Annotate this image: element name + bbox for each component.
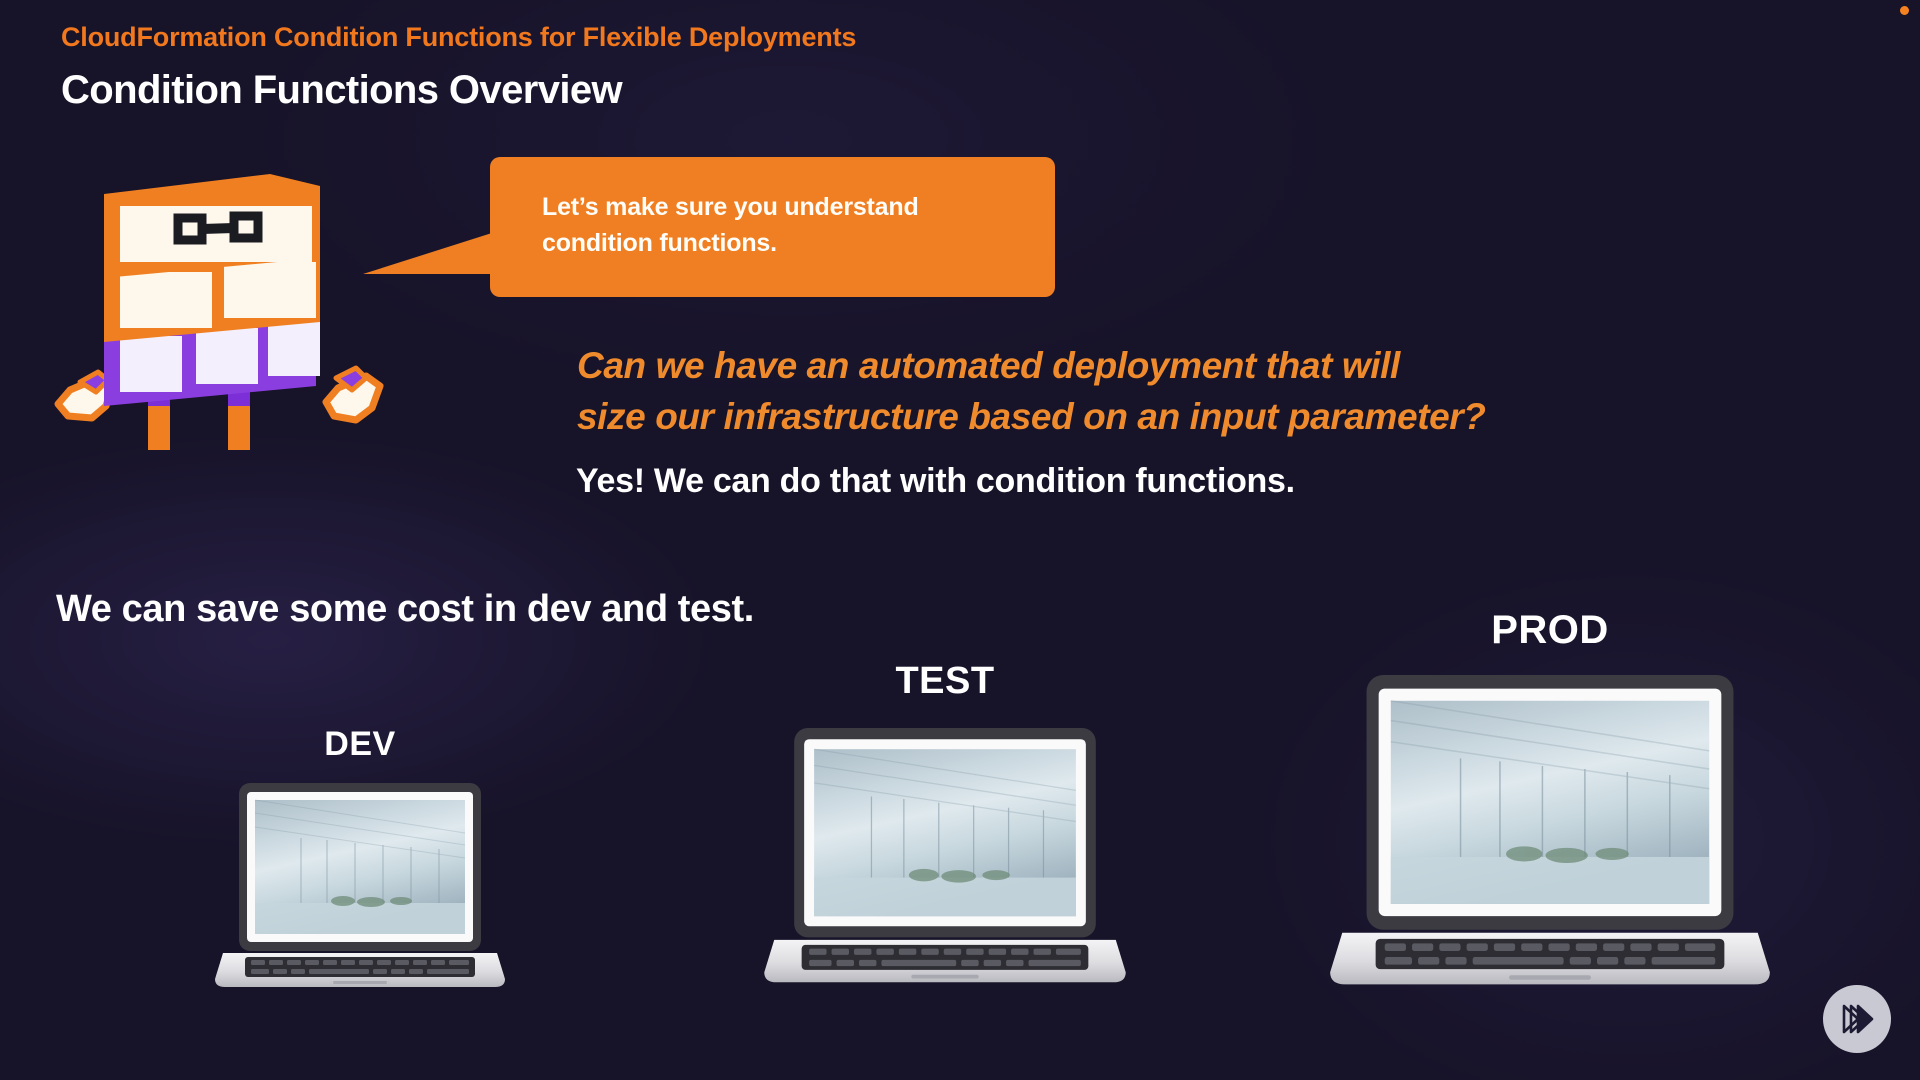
question-line-2: size our infrastructure based on an inpu… — [577, 391, 1667, 442]
brick-robot-mascot — [20, 150, 400, 450]
mascot-right-hand — [326, 368, 380, 420]
speech-bubble: Let’s make sure you understand condition… — [490, 157, 1055, 297]
slide-kicker: CloudFormation Condition Functions for F… — [61, 22, 856, 53]
corner-accent-dot — [1900, 6, 1909, 15]
speech-bubble-tail — [363, 232, 495, 274]
environment-test: TEST — [760, 660, 1130, 1000]
laptop-test — [760, 728, 1130, 996]
question-line-1: Can we have an automated deployment that… — [577, 340, 1667, 391]
environment-label-dev: DEV — [215, 725, 505, 764]
environment-label-test: TEST — [760, 660, 1130, 703]
environment-dev: DEV — [215, 725, 505, 995]
page-title: Condition Functions Overview — [61, 68, 622, 113]
play-forward-icon — [1839, 1003, 1875, 1035]
environment-label-prod: PROD — [1325, 608, 1775, 653]
slide-canvas: CloudFormation Condition Functions for F… — [0, 0, 1920, 1080]
environment-prod: PROD — [1325, 608, 1775, 1008]
play-button[interactable] — [1823, 985, 1891, 1053]
cost-note-text: We can save some cost in dev and test. — [56, 588, 754, 631]
laptop-prod — [1325, 675, 1775, 1001]
answer-text: Yes! We can do that with condition funct… — [576, 462, 1295, 501]
mascot-left-hand — [58, 372, 112, 418]
question-text: Can we have an automated deployment that… — [577, 340, 1667, 442]
laptop-dev — [215, 783, 505, 998]
